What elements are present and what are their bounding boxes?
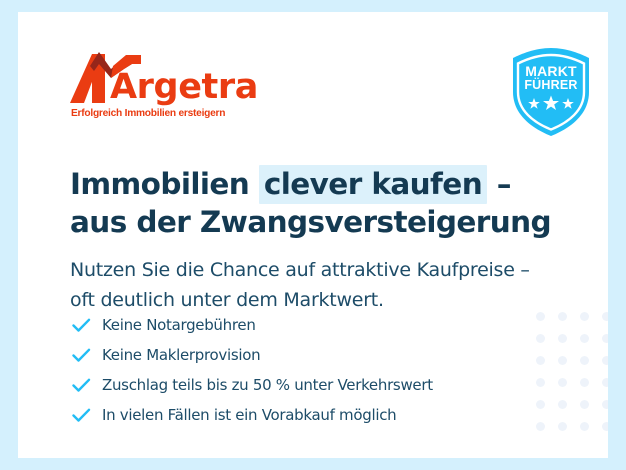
decorative-dot <box>580 422 589 431</box>
promo-card: Argetra Erfolgreich Immobilien ersteiger… <box>18 12 608 458</box>
decorative-dot <box>558 422 567 431</box>
list-item: Keine Notargebühren <box>72 310 542 340</box>
list-item-label: Keine Notargebühren <box>102 316 256 334</box>
page-subtitle: Nutzen Sie die Chance auf attraktive Kau… <box>70 255 570 315</box>
checkmark-icon <box>72 318 102 333</box>
headline-line-2: aus der Zwangsversteigerung <box>70 203 570 241</box>
decorative-dot <box>602 378 608 387</box>
headline-highlight: clever kaufen <box>259 165 487 204</box>
decorative-dot <box>558 378 567 387</box>
decorative-dot <box>580 356 589 365</box>
decorative-dot <box>602 334 608 343</box>
page-title: Immobilien clever kaufen –aus der Zwangs… <box>70 165 570 241</box>
decorative-dot <box>580 400 589 409</box>
decorative-dot <box>558 356 567 365</box>
logo-tagline: Erfolgreich Immobilien ersteigern <box>71 108 225 119</box>
decorative-dot <box>558 334 567 343</box>
list-item-label: In vielen Fällen ist ein Vorabkauf mögli… <box>102 406 396 424</box>
checkmark-icon <box>72 348 102 363</box>
decorative-dot <box>602 312 608 321</box>
list-item-label: Zuschlag teils bis zu 50 % unter Verkehr… <box>102 376 433 394</box>
list-item-label: Keine Maklerprovision <box>102 346 260 364</box>
headline-prefix: Immobilien <box>70 167 259 201</box>
headline-suffix: – <box>487 167 511 201</box>
list-item: Zuschlag teils bis zu 50 % unter Verkehr… <box>72 370 542 400</box>
market-leader-badge: MARKT FÜHRER <box>509 46 593 138</box>
decorative-dot <box>580 378 589 387</box>
decorative-dot <box>558 400 567 409</box>
dot-grid-decoration <box>536 312 608 452</box>
decorative-dot <box>580 312 589 321</box>
decorative-dot <box>602 422 608 431</box>
list-item: Keine Maklerprovision <box>72 340 542 370</box>
checkmark-icon <box>72 408 102 423</box>
decorative-dot <box>602 400 608 409</box>
subtitle-line-1: Nutzen Sie die Chance auf attraktive Kau… <box>70 255 570 285</box>
benefits-list: Keine NotargebührenKeine Maklerprovision… <box>72 310 542 430</box>
logo-wordmark: Argetra <box>110 70 258 105</box>
decorative-dot <box>602 356 608 365</box>
list-item: In vielen Fällen ist ein Vorabkauf mögli… <box>72 400 542 430</box>
brand-logo[interactable]: Argetra Erfolgreich Immobilien ersteiger… <box>70 52 300 122</box>
promo-banner: Argetra Erfolgreich Immobilien ersteiger… <box>0 0 626 470</box>
checkmark-icon <box>72 378 102 393</box>
shield-badge-icon <box>509 46 593 138</box>
decorative-dot <box>580 334 589 343</box>
